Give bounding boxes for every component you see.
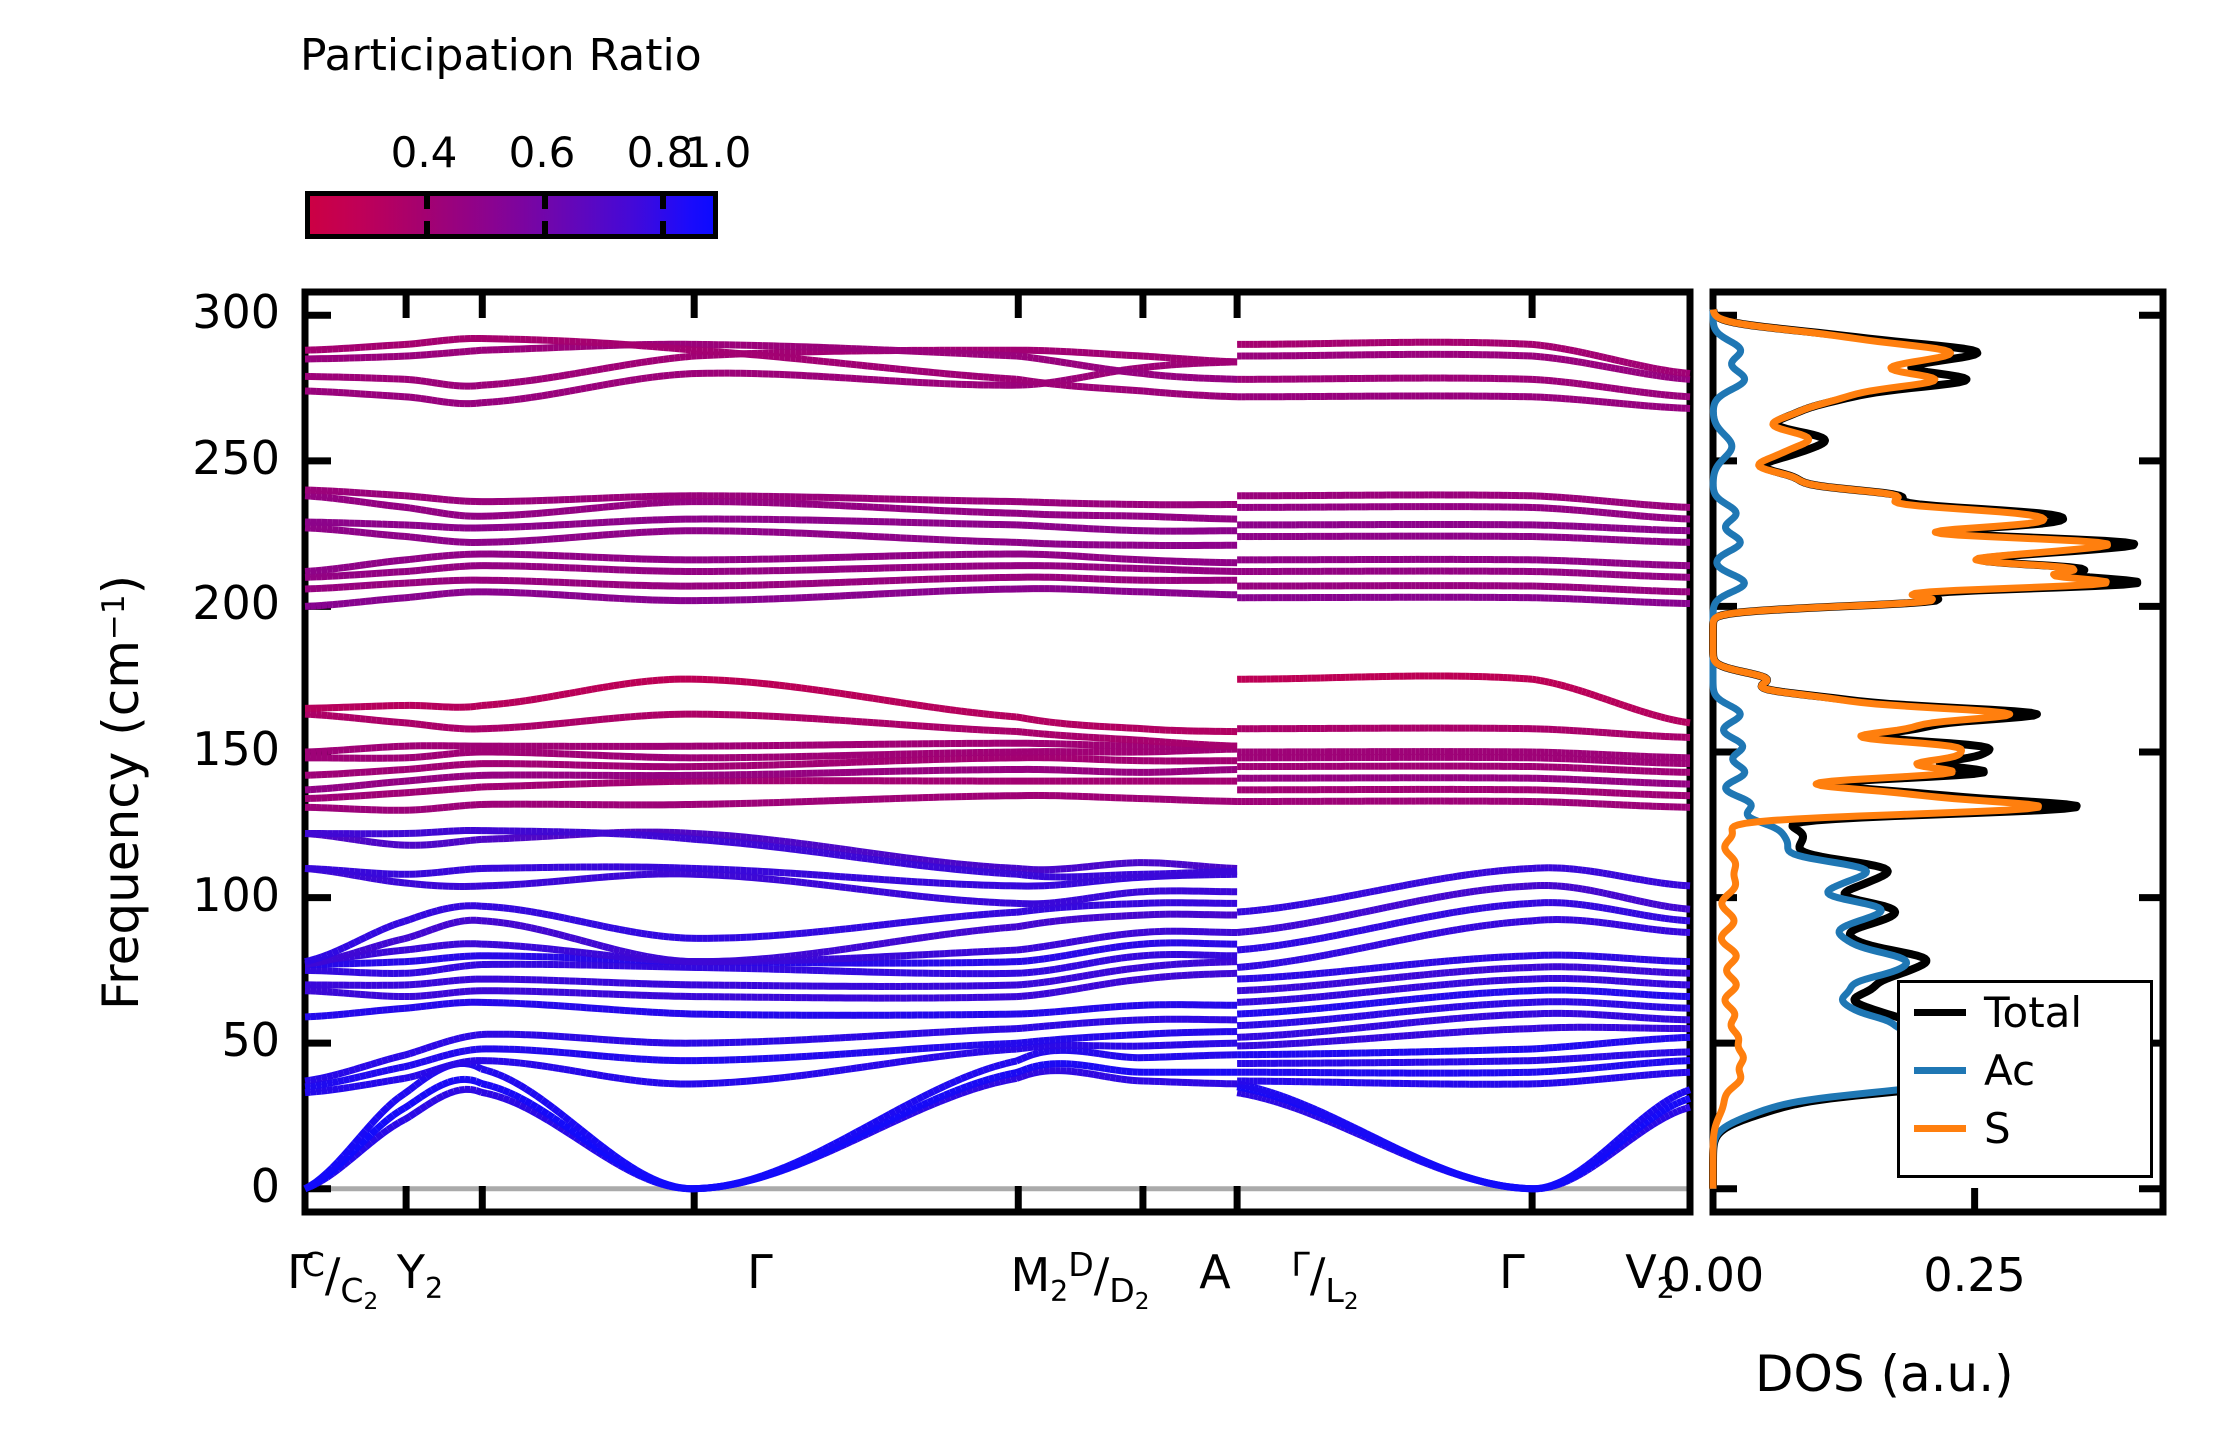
dos-plot — [0, 0, 2222, 1455]
legend-label-ac: Ac — [1984, 1046, 2035, 1095]
legend-swatch-s — [1914, 1125, 1966, 1132]
legend-item-total[interactable]: Total — [1900, 983, 2150, 1041]
dos-axis-label: DOS (a.u.) — [1755, 1345, 2014, 1403]
legend-swatch-total — [1914, 1009, 1966, 1016]
figure-root: Participation Ratio 0.4 0.6 0.8 1.0 Freq… — [0, 0, 2222, 1455]
legend-swatch-ac — [1914, 1067, 1966, 1074]
legend-label-s: S — [1984, 1104, 2011, 1153]
legend-item-s[interactable]: S — [1900, 1099, 2150, 1157]
dos-tick-label-1: 0.25 — [1885, 1248, 2065, 1302]
legend-label-total: Total — [1984, 988, 2082, 1037]
dos-legend: Total Ac S — [1897, 980, 2153, 1178]
dos-tick-label-0: 0.00 — [1623, 1248, 1803, 1302]
legend-item-ac[interactable]: Ac — [1900, 1041, 2150, 1099]
